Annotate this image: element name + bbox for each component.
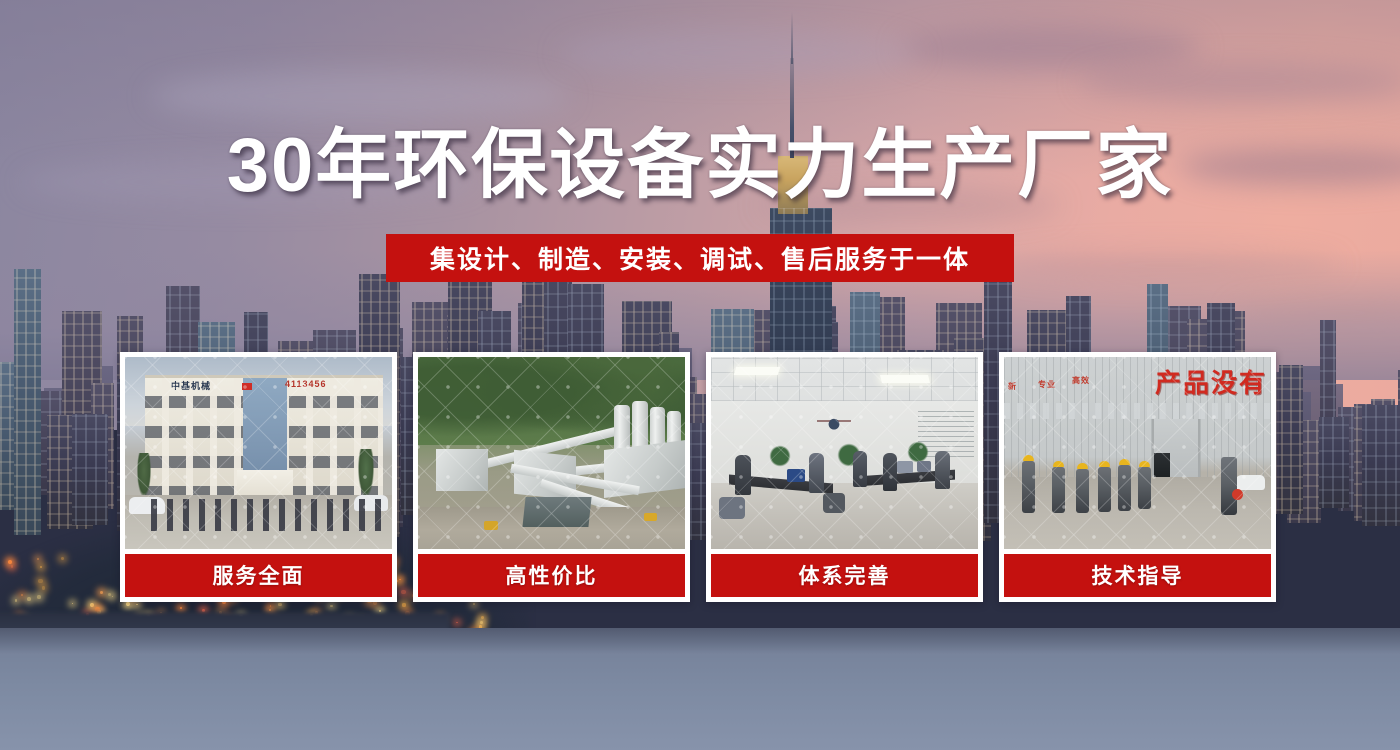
hardhat-1 [1023, 455, 1034, 461]
monitor-1 [897, 461, 913, 473]
card-3-label-bar: 体系完善 [711, 554, 978, 597]
building-phone-text: 4113456 [285, 379, 327, 389]
tree-right [358, 449, 374, 497]
worker-2 [1052, 467, 1065, 513]
tree-left [137, 453, 151, 497]
feature-card-2[interactable]: 高性价比 [413, 352, 690, 602]
worker-5 [1118, 465, 1131, 511]
banner-headline: 30年环保设备实力生产厂家 [0, 128, 1400, 204]
card-1-photo: 中基机械 4113456 [125, 357, 392, 549]
hardhat-4 [1099, 461, 1110, 467]
feature-card-grid: 中基机械 4113456 服务全面 [120, 352, 1276, 602]
card-4-label-text: 技术指导 [1092, 560, 1184, 590]
parked-car [1235, 475, 1265, 490]
office-chair-1 [823, 493, 845, 513]
red-hardhat-held [1232, 489, 1243, 500]
plant-shed [522, 497, 591, 527]
factory-slogan-3: 高效 [1072, 375, 1090, 386]
plant-block-3 [436, 449, 488, 491]
excavator-2 [644, 513, 657, 521]
visitor-chair-1 [719, 497, 745, 519]
card-2-label-bar: 高性价比 [418, 554, 685, 597]
office-building [145, 375, 383, 495]
employee-3 [853, 451, 867, 487]
potted-plant-3 [907, 441, 929, 463]
laptop-1 [787, 469, 805, 482]
ceiling-lamp-1 [734, 367, 781, 375]
card-3-label-text: 体系完善 [799, 560, 891, 590]
employee-5 [935, 451, 950, 489]
card-3-photo [711, 357, 978, 549]
card-1-label-bar: 服务全面 [125, 554, 392, 597]
employee-2 [809, 453, 824, 493]
hardhat-5 [1119, 459, 1130, 465]
worker-4 [1098, 467, 1111, 512]
banner-subtitle-bar: 集设计、制造、安装、调试、售后服务于一体 [386, 234, 1014, 282]
factory-slogan-2: 专业 [1038, 379, 1056, 390]
silo-2 [632, 401, 648, 449]
building-sign-text: 中基机械 [171, 379, 211, 392]
banner-subtitle-text: 集设计、制造、安装、调试、售后服务于一体 [430, 240, 970, 276]
feature-card-3[interactable]: 体系完善 [706, 352, 983, 602]
supervisor [1221, 457, 1237, 515]
card-4-photo: 产品没有 新 专业 高效 [1004, 357, 1271, 549]
office-ceiling [711, 357, 978, 401]
factory-sign-text: 产品没有 [1155, 363, 1267, 400]
national-flag [242, 383, 252, 390]
wall-decal-logo [817, 411, 851, 435]
employee-4 [883, 453, 897, 491]
card-2-photo [418, 357, 685, 549]
feature-card-4[interactable]: 产品没有 新 专业 高效 [999, 352, 1276, 602]
card-2-label-text: 高性价比 [506, 560, 598, 590]
hardhat-3 [1077, 463, 1088, 469]
factory-side-door [1154, 453, 1170, 479]
office-floor [711, 483, 978, 549]
employee-1 [735, 455, 751, 495]
excavator-1 [484, 521, 498, 530]
ceiling-lamp-2 [880, 375, 930, 383]
hardhat-6 [1139, 461, 1150, 467]
facade-window-band [1004, 403, 1271, 419]
feature-card-1[interactable]: 中基机械 4113456 服务全面 [120, 352, 397, 602]
potted-plant-1 [769, 445, 791, 467]
worker-6 [1138, 467, 1151, 509]
staff-lineup [145, 499, 383, 531]
card-4-label-bar: 技术指导 [1004, 554, 1271, 597]
worker-3 [1076, 469, 1089, 513]
banner-content: 30年环保设备实力生产厂家 集设计、制造、安装、调试、售后服务于一体 中基机械 … [0, 0, 1400, 750]
worker-1 [1022, 461, 1035, 513]
factory-slogan-1: 新 [1008, 381, 1017, 392]
monitor-2 [917, 461, 931, 472]
card-1-label-text: 服务全面 [213, 560, 305, 590]
hardhat-2 [1053, 461, 1064, 467]
silo-1 [614, 405, 630, 449]
